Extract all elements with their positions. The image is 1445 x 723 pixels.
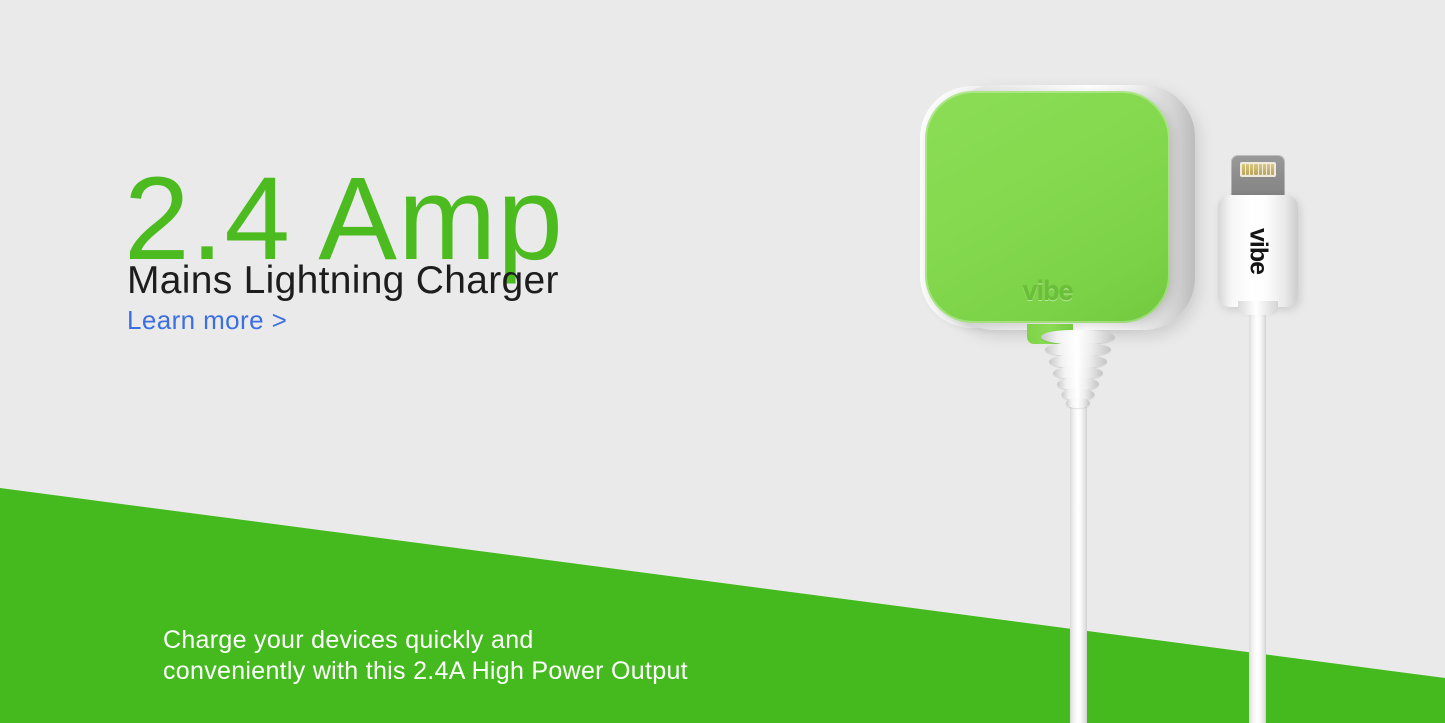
connector-gold-pins bbox=[1240, 162, 1276, 177]
product-illustration: vibe vibe bbox=[0, 0, 1445, 723]
connector-collar bbox=[1238, 301, 1278, 315]
lightning-cable bbox=[1249, 300, 1266, 723]
headline-block: 2.4 Amp Mains Lightning Charger Learn mo… bbox=[124, 160, 564, 278]
vibe-logo-connector: vibe bbox=[1244, 228, 1273, 274]
product-banner: vibe vibe 2.4 Amp Mains Lightning Charge… bbox=[0, 0, 1445, 723]
charger-cable bbox=[1070, 400, 1087, 723]
vibe-logo-charger: vibe bbox=[925, 276, 1170, 307]
mains-charger: vibe bbox=[925, 85, 1195, 330]
cable-strain-relief bbox=[1030, 330, 1126, 408]
subheadline-product-name: Mains Lightning Charger bbox=[127, 261, 559, 300]
promo-text-block: Charge your devices quickly and convenie… bbox=[163, 625, 688, 687]
connector-housing: vibe bbox=[1218, 195, 1298, 307]
promo-line-1: Charge your devices quickly and bbox=[163, 625, 688, 656]
lightning-connector: vibe bbox=[1218, 155, 1298, 315]
promo-line-2: conveniently with this 2.4A High Power O… bbox=[163, 656, 688, 687]
charger-front-face: vibe bbox=[925, 91, 1170, 323]
learn-more-link[interactable]: Learn more > bbox=[127, 307, 287, 333]
